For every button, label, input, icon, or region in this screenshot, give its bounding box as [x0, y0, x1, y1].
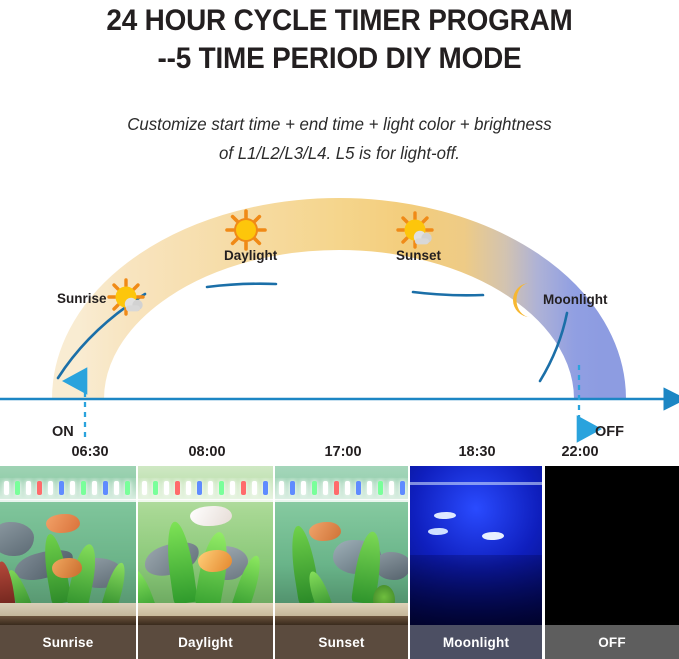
stage-label-moonlight: Moonlight: [543, 292, 607, 307]
water-surface-line: [275, 499, 408, 502]
stage-label-sunset: Sunset: [396, 248, 441, 263]
led-light-bar: [0, 478, 136, 500]
light-cycle-diagram: [0, 185, 679, 465]
sun-behind-cloud-icon: [398, 213, 432, 247]
tick-label-1: 08:00: [172, 444, 242, 460]
page-subtitle: Customize start time + end time + light …: [0, 110, 679, 168]
preview-panel-off[interactable]: OFF: [545, 466, 679, 659]
preview-panel-moonlight[interactable]: Moonlight: [410, 466, 542, 659]
tick-label-4: 22:00: [545, 444, 615, 460]
led-light-bar: [138, 478, 273, 500]
subtitle-line-2: of L1/L2/L3/L4. L5 is for light-off.: [14, 139, 666, 168]
tick-label-2: 17:00: [308, 444, 378, 460]
preview-caption-sunset: Sunset: [275, 625, 408, 659]
preview-caption-off: OFF: [545, 625, 679, 659]
fish: [482, 532, 504, 540]
stage-label-sunrise: Sunrise: [57, 291, 107, 306]
cycle-arc: [78, 224, 600, 399]
title-line-2: --5 TIME PERIOD DIY MODE: [24, 40, 655, 78]
sun-icon: [227, 211, 265, 249]
substrate: [138, 616, 273, 625]
water-surface-line: [138, 499, 273, 502]
water-surface-line: [0, 499, 136, 502]
tick-label-0: 06:30: [55, 444, 125, 460]
substrate: [275, 616, 408, 625]
dark-substrate-haze: [410, 555, 542, 625]
sun-behind-cloud-icon: [109, 280, 143, 314]
preview-panel-sunrise[interactable]: Sunrise: [0, 466, 136, 659]
fish: [428, 528, 448, 535]
substrate: [0, 616, 136, 625]
off-label: OFF: [595, 424, 624, 440]
page-root: 24 HOUR CYCLE TIMER PROGRAM --5 TIME PER…: [0, 0, 679, 659]
fish: [434, 512, 456, 519]
preview-panel-daylight[interactable]: Daylight: [138, 466, 273, 659]
preview-caption-sunrise: Sunrise: [0, 625, 136, 659]
on-label: ON: [52, 424, 74, 440]
stage-label-daylight: Daylight: [224, 248, 277, 263]
title-line-1: 24 HOUR CYCLE TIMER PROGRAM: [24, 2, 655, 40]
water-surface-line: [410, 482, 542, 485]
page-title: 24 HOUR CYCLE TIMER PROGRAM --5 TIME PER…: [0, 2, 679, 78]
led-light-bar: [275, 478, 408, 500]
preview-panel-sunset[interactable]: Sunset: [275, 466, 408, 659]
tick-label-3: 18:30: [442, 444, 512, 460]
diagram-svg: [0, 185, 679, 465]
preview-caption-moonlight: Moonlight: [410, 625, 542, 659]
preview-strip: Sunrise: [0, 466, 679, 659]
preview-caption-daylight: Daylight: [138, 625, 273, 659]
subtitle-line-1: Customize start time + end time + light …: [14, 110, 666, 139]
